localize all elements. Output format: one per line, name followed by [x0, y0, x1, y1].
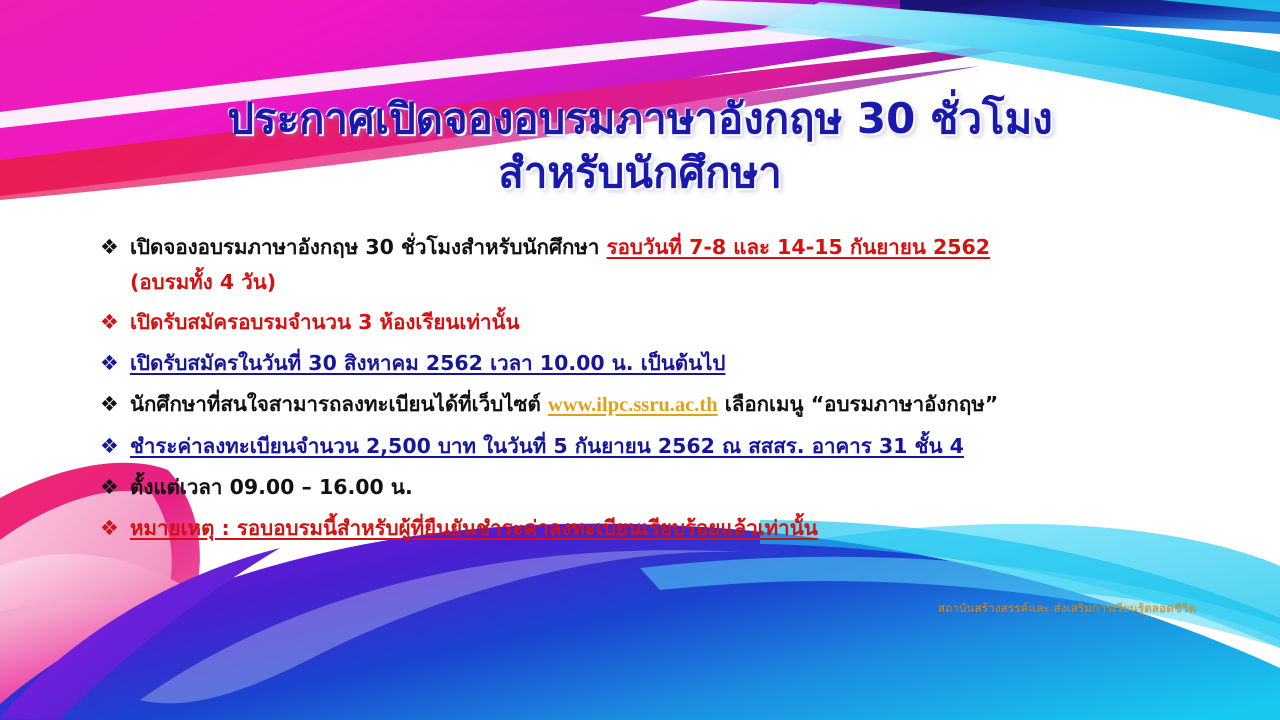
petal-mid — [0, 554, 297, 720]
bullet-text: นักศึกษาที่สนใจสามารถลงทะเบียนได้ที่เว็บ… — [130, 389, 1260, 420]
list-item: ❖ เปิดรับสมัครในวันที่ 30 สิงหาคม 2562 เ… — [100, 348, 1260, 378]
bullet-text: เปิดรับสมัครอบรมจำนวน 3 ห้องเรียนเท่านั้… — [130, 307, 1260, 337]
bullet-segment: เปิดจองอบรมภาษาอังกฤษ 30 ชั่วโมงสำหรับนั… — [130, 235, 607, 259]
list-item: ❖ หมายเหตุ : รอบอบรมนี้สำหรับผู้ที่ยืนยั… — [100, 513, 1260, 543]
top-navy-band — [900, 0, 1280, 34]
website-link[interactable]: www.ilpc.ssru.ac.th — [548, 394, 718, 416]
bullet-segment: เลือกเมนู “อบรมภาษาอังกฤษ” — [718, 392, 999, 416]
diamond-bullet-icon: ❖ — [100, 232, 130, 262]
bullet-segment: เปิดรับสมัครในวันที่ 30 สิงหาคม 2562 เวล… — [130, 351, 725, 375]
bullet-text: เปิดรับสมัครในวันที่ 30 สิงหาคม 2562 เวล… — [130, 348, 1260, 378]
bottom-purple-tail — [0, 548, 280, 720]
title-line-1: ประกาศเปิดจองอบรมภาษาอังกฤษ 30 ชั่วโมง — [150, 92, 1130, 146]
bullet-list: ❖ เปิดจองอบรมภาษาอังกฤษ 30 ชั่วโมงสำหรับ… — [100, 232, 1260, 554]
bullet-segment: นักศึกษาที่สนใจสามารถลงทะเบียนได้ที่เว็บ… — [130, 392, 548, 416]
petal-highlight — [60, 642, 740, 720]
list-item: ❖ ชำระค่าลงทะเบียนจำนวน 2,500 บาท ในวันท… — [100, 431, 1260, 461]
announcement-slide: ประกาศเปิดจองอบรมภาษาอังกฤษ 30 ชั่วโมง ส… — [0, 0, 1280, 720]
footer-organization-name: สถาบันสร้างสรรค์และ ส่งเสริมการเรียนรู้ต… — [938, 600, 1196, 616]
bullet-segment: หมายเหตุ : รอบอบรมนี้สำหรับผู้ที่ยืนยันช… — [130, 516, 818, 540]
top-dark-stripe — [1040, 0, 1280, 22]
petal-sweep — [140, 591, 1010, 720]
bullet-text: หมายเหตุ : รอบอบรมนี้สำหรับผู้ที่ยืนยันช… — [130, 513, 1260, 543]
bullet-segment-highlight: รอบวันที่ 7-8 และ 14-15 กันยายน 2562 — [607, 235, 990, 259]
top-cyan-band — [640, 0, 1280, 96]
bullet-segment: ตั้งแต่เวลา 09.00 – 16.00 น. — [130, 475, 413, 499]
diamond-bullet-icon: ❖ — [100, 472, 130, 502]
bullet-text: เปิดจองอบรมภาษาอังกฤษ 30 ชั่วโมงสำหรับนั… — [130, 232, 1260, 262]
list-item: ❖ เปิดรับสมัครอบรมจำนวน 3 ห้องเรียนเท่าน… — [100, 307, 1260, 337]
petal-large — [0, 598, 500, 720]
bullet-segment: เปิดรับสมัครอบรมจำนวน 3 ห้องเรียนเท่านั้… — [130, 310, 520, 334]
bullet-text: ชำระค่าลงทะเบียนจำนวน 2,500 บาท ในวันที่… — [130, 431, 1260, 461]
diamond-bullet-icon: ❖ — [100, 431, 130, 461]
diamond-bullet-icon: ❖ — [100, 307, 130, 337]
list-item: ❖ เปิดจองอบรมภาษาอังกฤษ 30 ชั่วโมงสำหรับ… — [100, 232, 1260, 262]
diamond-bullet-icon: ❖ — [100, 389, 130, 419]
bullet-segment: ชำระค่าลงทะเบียนจำนวน 2,500 บาท ในวันที่… — [130, 434, 964, 458]
bottom-wave-highlight — [140, 550, 740, 703]
list-item: ❖ นักศึกษาที่สนใจสามารถลงทะเบียนได้ที่เว… — [100, 389, 1260, 420]
page-title: ประกาศเปิดจองอบรมภาษาอังกฤษ 30 ชั่วโมง ส… — [150, 92, 1130, 200]
diamond-bullet-icon: ❖ — [100, 348, 130, 378]
list-item: ❖ ตั้งแต่เวลา 09.00 – 16.00 น. — [100, 472, 1260, 502]
bullet-sub-line: (อบรมทั้ง 4 วัน) — [130, 267, 1260, 297]
bullet-text: ตั้งแต่เวลา 09.00 – 16.00 น. — [130, 472, 1260, 502]
top-cyan-thin — [1160, 0, 1280, 12]
diamond-bullet-icon: ❖ — [100, 513, 130, 543]
title-line-2: สำหรับนักศึกษา — [150, 146, 1130, 200]
